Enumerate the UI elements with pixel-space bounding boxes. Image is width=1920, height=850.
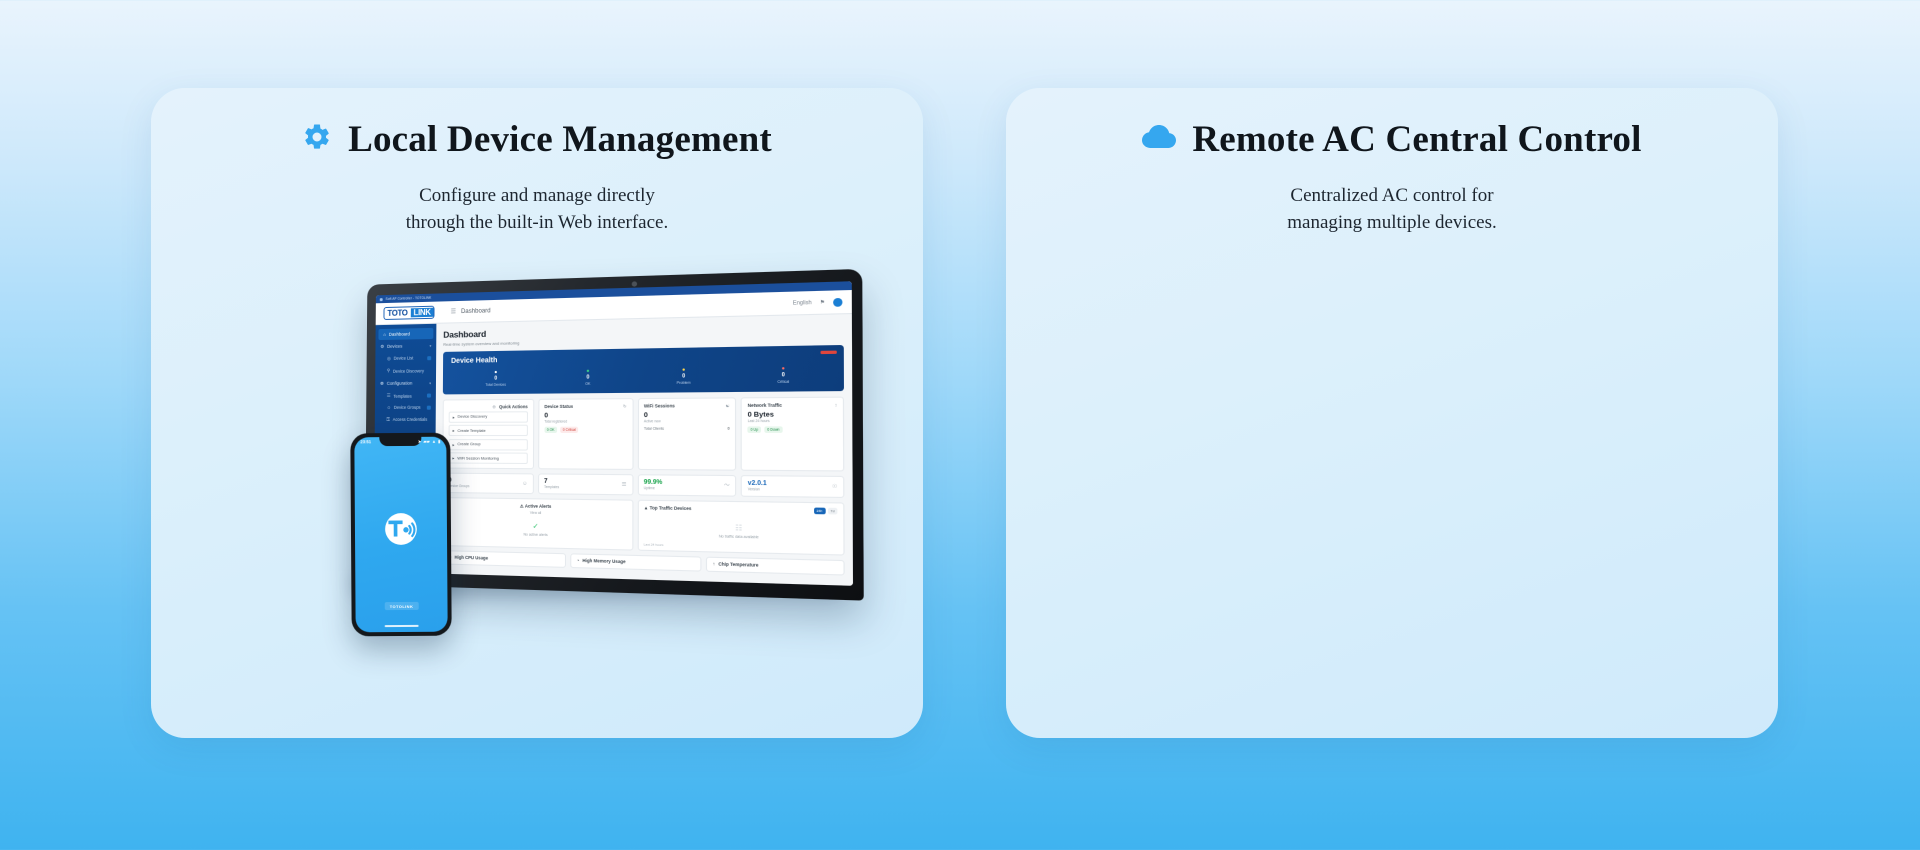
sidebar-item-label: Devices (387, 344, 402, 349)
quick-action-create-template[interactable]: ▸Create Template (449, 425, 528, 436)
health-stat-label: Critical (733, 379, 835, 384)
metric-label: Uptime (644, 486, 663, 490)
right-panel-title: Remote AC Central Control (1192, 118, 1641, 161)
panel-remote-ac-central-control: Remote AC Central Control Centralized AC… (1006, 88, 1778, 738)
quick-action-device-discovery[interactable]: ▸Device Discovery (449, 411, 528, 423)
top-traffic-empty-state: ☷ No traffic data available (644, 522, 838, 541)
health-stat-label: Total Devices (451, 382, 541, 387)
metric-label: Device Groups (448, 484, 469, 488)
logo-text-link: LINK (411, 308, 434, 318)
device-status-label: Total registered (544, 419, 626, 423)
left-sub-line-1: Configure and manage directly (151, 183, 923, 210)
alert-icon: ⚠ (520, 503, 524, 508)
dashboard-cards-row-3: ⚠ Active Alerts View all ✓ No active ale… (442, 497, 845, 555)
metric-value: 7 (544, 478, 559, 484)
alert-rule-label: Chip Temperature (718, 561, 758, 567)
totolink-app-logo (381, 509, 421, 549)
avatar[interactable] (833, 297, 842, 306)
cloud-icon (1142, 124, 1176, 155)
sidebar-item-label: Device Groups (394, 405, 421, 410)
sidebar-icon: ⌂ (383, 332, 386, 337)
metric-templates: 7Templates☰ (538, 473, 633, 494)
active-alerts-label: Active Alerts (525, 503, 552, 509)
phone-screen: 23:51 ➤ ▰▰ ▲ ▮ (354, 437, 447, 633)
phone-status-icons: ➤ ▰▰ ▲ ▮ (418, 439, 440, 444)
metric-icon: ☺ (522, 480, 527, 486)
top-traffic-devices-card: 24h 7d ▲ Top Traffic Devices ☷ (637, 499, 844, 555)
top-traffic-label: Top Traffic Devices (650, 505, 692, 511)
dashboard-cards-row-1: ⚙ Quick Actions ▸Device Discovery▸Create… (442, 396, 844, 472)
left-panel-header: Local Device Management Configure and ma… (151, 88, 923, 237)
sidebar-badge (427, 356, 431, 360)
device-health-title: Device Health (451, 351, 834, 364)
right-panel-header: Remote AC Central Control Centralized AC… (1006, 88, 1778, 237)
sidebar-item-label: Configuration (387, 381, 413, 386)
sidebar-badge (427, 394, 431, 398)
sidebar-item-device-list[interactable]: ◎Device List (375, 352, 436, 365)
sidebar-item-device-discovery[interactable]: ⚲Device Discovery (375, 364, 436, 377)
metric-label: Version (748, 487, 767, 492)
chart-icon: ▲ (644, 505, 649, 510)
top-traffic-empty-text: No traffic data available (644, 532, 838, 540)
wifi-sessions-label: Active now (644, 419, 730, 423)
alert-rule-icon: ↑ (713, 561, 715, 566)
device-status-title: Device Status (544, 403, 573, 408)
language-selector[interactable]: English (793, 299, 812, 306)
quick-actions-title: Quick Actions (499, 404, 528, 409)
phone-time: 23:51 (360, 439, 371, 444)
sidebar-item-access-credentials[interactable]: ⚿Access Credentials (375, 413, 436, 425)
left-sub-line-2: through the built-in Web interface. (151, 210, 923, 237)
quick-action-label: WiFi Session Monitoring (457, 456, 499, 460)
left-panel-title: Local Device Management (348, 118, 772, 161)
wifi-sessions-card: WiFi Sessions ☯ 0 Active now Total Clien… (637, 397, 736, 471)
traffic-up-badge: 0 Up (748, 426, 761, 433)
quick-actions-list: ▸Device Discovery▸Create Template▸Create… (448, 411, 527, 464)
top-traffic-footer: Last 24 hours (644, 542, 664, 547)
metric-version: v2.0.1Version☉ (741, 475, 844, 497)
quick-action-create-group[interactable]: ▸Create Group (448, 439, 527, 450)
sidebar-badge (427, 406, 431, 410)
health-stat-value: 0 (635, 372, 733, 380)
health-stat-value: 0 (541, 373, 635, 380)
traffic-range-7d[interactable]: 7d (828, 507, 838, 514)
quick-action-icon: ▸ (453, 415, 455, 420)
metric-value: v2.0.1 (748, 480, 767, 487)
traffic-icon: ↕ (835, 402, 837, 408)
alert-rule-label: High Memory Usage (582, 558, 625, 564)
health-stat-total-devices: ●0Total Devices (451, 368, 542, 386)
device-status-critical-badge: 0 Critical (560, 427, 578, 433)
gear-icon (302, 122, 332, 157)
wifi-icon: ☯ (726, 402, 730, 407)
top-traffic-title: ▲ Top Traffic Devices (644, 505, 838, 513)
quick-action-label: Create Template (458, 429, 486, 433)
health-stat-problem: ●0Problem (635, 366, 733, 385)
metric-value: 0 (448, 477, 469, 483)
quick-action-label: Device Discovery (458, 415, 488, 419)
quick-action-icon: ▸ (452, 455, 454, 460)
traffic-range-24h[interactable]: 24h (814, 507, 826, 514)
phone-brand-label: TOTOLINK (385, 602, 419, 610)
sidebar-icon: ◎ (387, 356, 391, 362)
quick-actions-icon: ⚙ (492, 404, 496, 409)
metric-icon: ☉ (832, 483, 837, 490)
phone-status-bar: 23:51 ➤ ▰▰ ▲ ▮ (354, 439, 446, 445)
health-stat-label: Problem (635, 380, 733, 385)
dashboard-metrics-row: 0Device Groups☺7Templates☰99.9%Uptime〜v2… (442, 473, 844, 498)
health-stat-value: 0 (733, 371, 835, 379)
sidebar-item-templates[interactable]: ☰Templates (375, 389, 436, 402)
sidebar-icon: ⚙ (380, 344, 384, 350)
window-icon (380, 298, 383, 301)
wifi-icon: ▲ (432, 439, 436, 444)
quick-action-wifi-session-monitoring[interactable]: ▸WiFi Session Monitoring (448, 452, 527, 464)
active-alerts-empty-state: ✓ No active alerts (448, 520, 627, 538)
quick-action-icon: ▸ (453, 428, 455, 433)
metric-value: 99.9% (644, 479, 663, 486)
sidebar-icon: ☺ (387, 405, 391, 410)
sidebar-item-label: Access Credentials (393, 417, 428, 422)
network-traffic-card: Network Traffic ↕ 0 Bytes Last 24 hours … (741, 396, 844, 472)
alert-rule-icon: ◔ (577, 558, 580, 563)
chevron-down-icon: ▾ (429, 344, 431, 348)
quick-action-icon: ▸ (452, 442, 454, 447)
device-health-stats: ●0Total Devices●0OK●0Problem●0Critical (451, 364, 835, 386)
right-sub-line-1: Centralized AC control for (1006, 183, 1778, 210)
metric-uptime: 99.9%Uptime〜 (637, 474, 736, 496)
metric-icon: 〜 (724, 482, 730, 490)
phone-mockup: 23:51 ➤ ▰▰ ▲ ▮ (350, 433, 451, 637)
totolink-logo: TOTO LINK (383, 306, 434, 320)
wifi-sessions-row-key: Total Clients (644, 426, 664, 430)
sidebar-item-device-groups[interactable]: ☺Device Groups (375, 402, 436, 414)
phone-home-indicator[interactable] (385, 624, 419, 627)
right-panel-subtitle: Centralized AC control for managing mult… (1006, 183, 1778, 237)
traffic-range-toggle[interactable]: 24h 7d (814, 507, 838, 514)
health-stat-value: 0 (451, 374, 541, 381)
sidebar-icon: ☰ (387, 393, 391, 399)
breadcrumb: ☰ Dashboard (451, 307, 491, 315)
sidebar-icon: ⚿ (386, 417, 389, 422)
health-stat-critical: ●0Critical (733, 364, 835, 384)
alert-rule-label: High CPU Usage (455, 555, 489, 561)
sidebar-item-configuration[interactable]: ☸Configuration▾ (375, 377, 436, 390)
signal-icon: ▰▰ (423, 439, 429, 444)
chevron-down-icon: ▾ (429, 381, 431, 385)
scene: Local Device Management Configure and ma… (0, 0, 1920, 850)
refresh-icon[interactable]: ↻ (623, 403, 627, 408)
metric-icon: ☰ (622, 481, 627, 487)
wifi-sessions-value: 0 (644, 411, 730, 419)
panel-local-device-management: Local Device Management Configure and ma… (151, 88, 923, 738)
alert-rule-high-cpu-usage[interactable]: ⚙High CPU Usage (442, 550, 566, 568)
network-traffic-label: Last 24 hours (748, 419, 837, 424)
topbar-actions: English ⚑ (793, 297, 843, 307)
metric-device-groups: 0Device Groups☺ (442, 473, 534, 494)
active-alerts-view-all[interactable]: View all (448, 509, 626, 516)
health-stat-label: OK (541, 381, 635, 386)
notification-bell-icon[interactable]: ⚑ (820, 299, 825, 306)
device-status-card: Device Status ↻ 0 Total registered 0 OK … (538, 398, 633, 470)
breadcrumb-label: Dashboard (461, 308, 491, 315)
sidebar-item-label: Templates (393, 393, 411, 398)
metric-label: Templates (544, 485, 559, 489)
webcam-icon (632, 281, 637, 286)
device-status-ok-badge: 0 OK (544, 427, 557, 433)
menu-icon[interactable]: ☰ (451, 308, 456, 315)
sidebar-item-label: Device List (394, 356, 414, 361)
network-traffic-title: Network Traffic (748, 402, 782, 408)
traffic-down-badge: 0 Down (764, 426, 782, 433)
device-status-value: 0 (544, 411, 626, 419)
location-icon: ➤ (418, 439, 422, 444)
window-title: Soft AP Controller - TOTOLINK (386, 296, 432, 301)
sidebar-icon: ☸ (380, 381, 384, 387)
sidebar-icon: ⚲ (387, 368, 390, 374)
health-stat-ok: ●0OK (541, 367, 635, 386)
quick-action-label: Create Group (457, 442, 480, 446)
network-traffic-value: 0 Bytes (748, 410, 837, 418)
app-content: Dashboard Real-time system overview and … (435, 314, 853, 586)
right-sub-line-2: managing multiple devices. (1006, 210, 1778, 237)
sidebar-item-devices[interactable]: ⚙Devices▾ (375, 339, 436, 353)
active-alerts-card: ⚠ Active Alerts View all ✓ No active ale… (442, 497, 633, 550)
sidebar-item-label: Device Discovery (393, 368, 424, 373)
wifi-sessions-row-value: 0 (728, 426, 730, 430)
alert-rule-chip-temperature[interactable]: ↑Chip Temperature (706, 556, 845, 575)
left-panel-subtitle: Configure and manage directly through th… (151, 183, 923, 237)
alert-rule-high-memory-usage[interactable]: ◔High Memory Usage (570, 553, 701, 571)
logo-text-toto: TOTO (384, 308, 410, 318)
active-alerts-empty-text: No active alerts (448, 530, 626, 538)
health-alert-bar (821, 350, 837, 354)
battery-icon: ▮ (438, 439, 440, 444)
sidebar-item-label: Dashboard (389, 332, 410, 337)
wifi-sessions-title: WiFi Sessions (644, 403, 675, 408)
device-health-panel: Device Health ●0Total Devices●0OK●0Probl… (443, 344, 844, 394)
quick-actions-card: ⚙ Quick Actions ▸Device Discovery▸Create… (442, 398, 534, 469)
